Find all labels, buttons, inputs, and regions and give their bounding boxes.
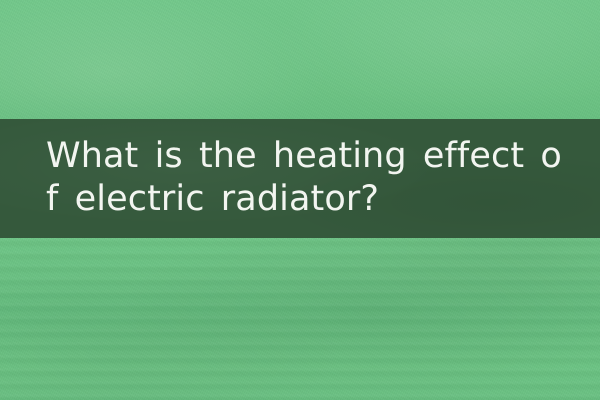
question-text: What is the heating effect of electric r… [46, 135, 562, 221]
question-card: What is the heating effect of electric r… [0, 0, 600, 400]
caption-band: What is the heating effect of electric r… [0, 119, 600, 238]
